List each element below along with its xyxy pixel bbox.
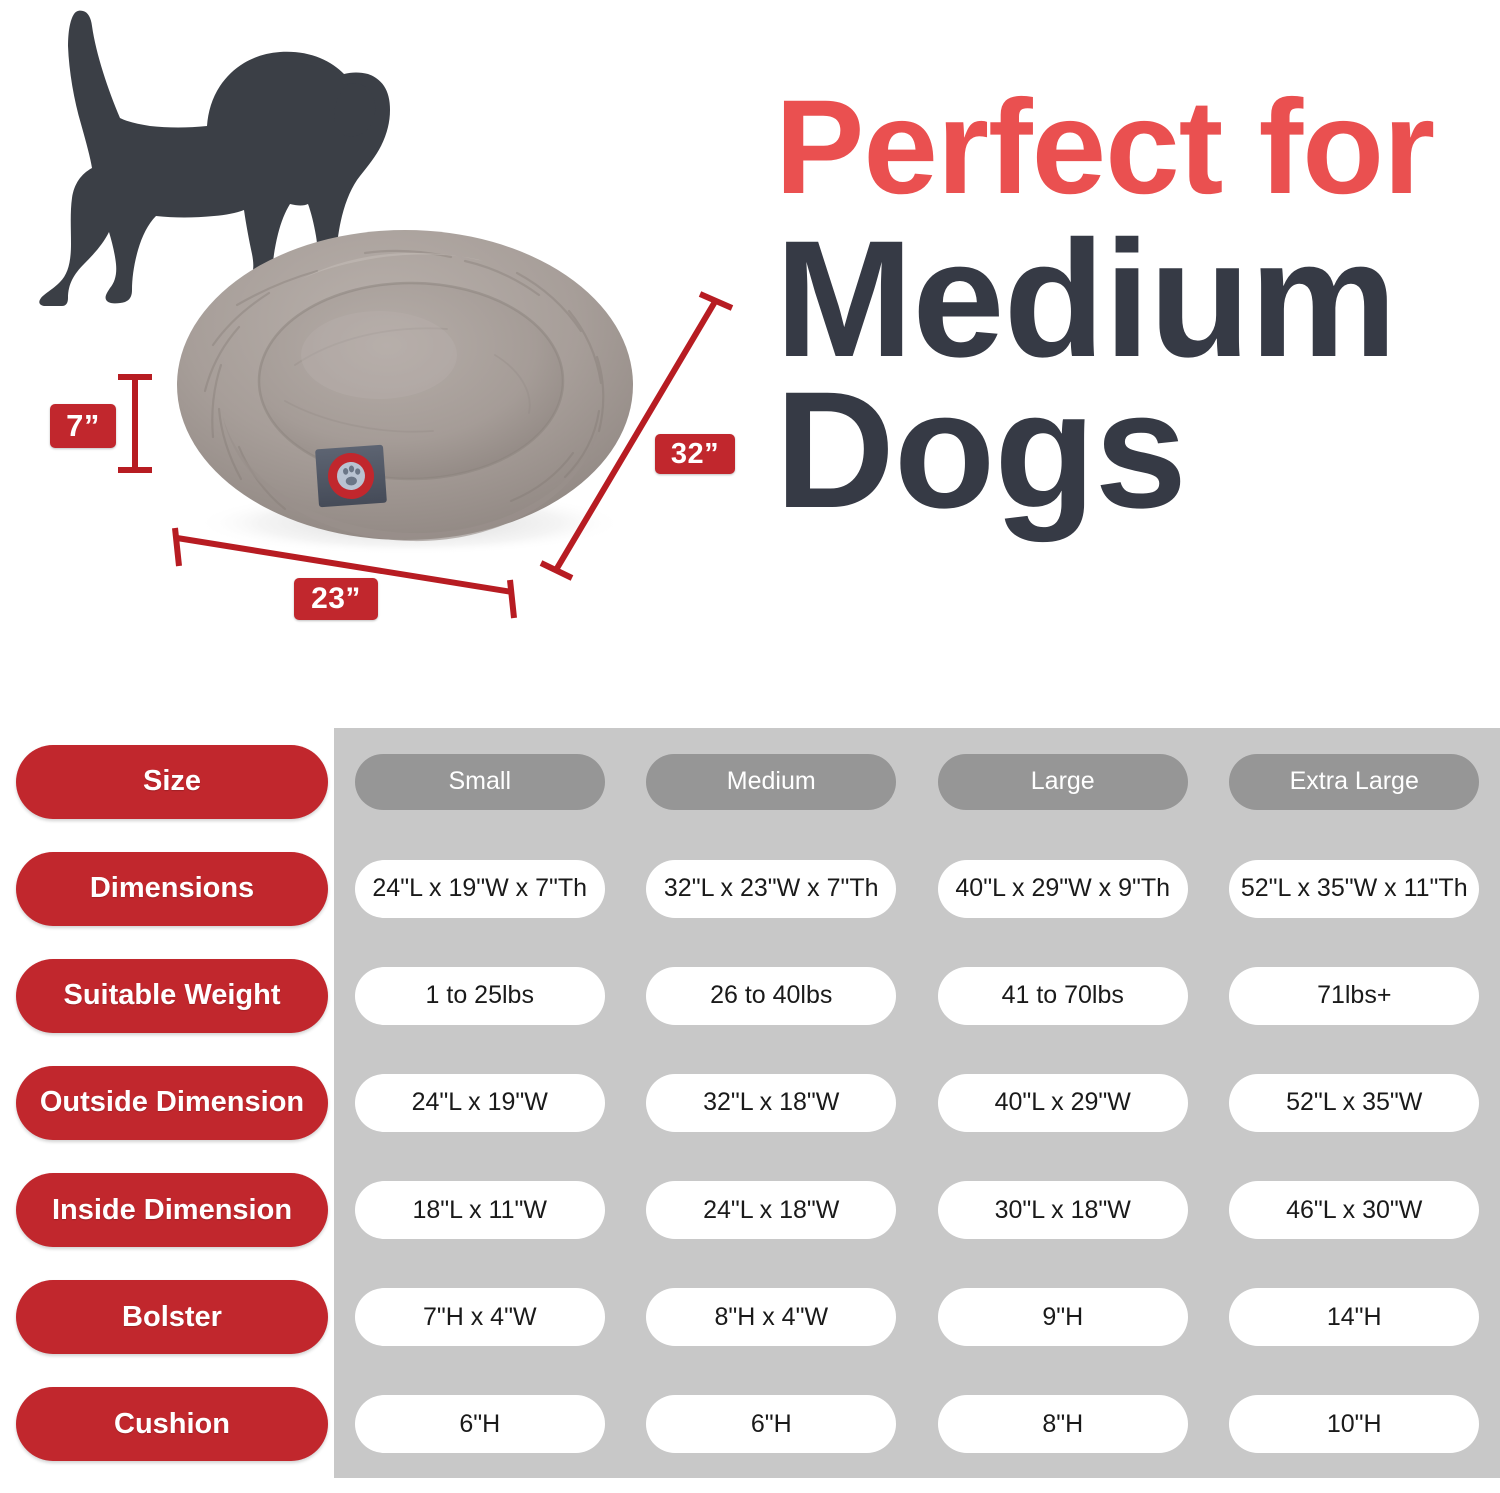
row-label-cushion: Cushion bbox=[16, 1387, 328, 1461]
table-cell: 30"L x 18"W bbox=[917, 1157, 1209, 1264]
table-cell: 24"L x 18"W bbox=[626, 1157, 918, 1264]
product-photo-dog-bed bbox=[165, 205, 645, 565]
data-pill: 24"L x 19"W bbox=[355, 1074, 605, 1132]
data-pill: 40"L x 29"W x 9"Th bbox=[938, 860, 1188, 918]
table-cell: 7"H x 4"W bbox=[334, 1264, 626, 1371]
table-cell: 32"L x 23"W x 7"Th bbox=[626, 835, 918, 942]
data-pill: 26 to 40lbs bbox=[646, 967, 896, 1025]
data-pill: 40"L x 29"W bbox=[938, 1074, 1188, 1132]
header-cell-extra-large: Extra Large bbox=[1209, 728, 1500, 835]
row-label-size: Size bbox=[16, 745, 328, 819]
row-label-suitable-weight: Suitable Weight bbox=[16, 959, 328, 1033]
row-label-cell-inside-dimension: Inside Dimension bbox=[0, 1157, 334, 1264]
row-label-bolster: Bolster bbox=[16, 1280, 328, 1354]
table-cell: 71lbs+ bbox=[1209, 942, 1500, 1049]
data-pill: 41 to 70lbs bbox=[938, 967, 1188, 1025]
dimension-badge-width: 23” bbox=[294, 578, 378, 620]
table-cell: 18"L x 11"W bbox=[334, 1157, 626, 1264]
row-label-inside-dimension: Inside Dimension bbox=[16, 1173, 328, 1247]
headline-line-perfect-for: Perfect for bbox=[775, 82, 1495, 213]
header-cell-medium: Medium bbox=[626, 728, 918, 835]
table-cell: 46"L x 30"W bbox=[1209, 1157, 1500, 1264]
row-label-cell-size: Size bbox=[0, 728, 334, 835]
data-pill: 6"H bbox=[355, 1395, 605, 1453]
data-pill: 10"H bbox=[1229, 1395, 1479, 1453]
data-pill: 8"H bbox=[938, 1395, 1188, 1453]
data-pill: 24"L x 19"W x 7"Th bbox=[355, 860, 605, 918]
table-cell: 52"L x 35"W x 11"Th bbox=[1209, 835, 1500, 942]
table-cell: 6"H bbox=[626, 1371, 918, 1478]
row-label-cell-suitable-weight: Suitable Weight bbox=[0, 942, 334, 1049]
data-pill: 9"H bbox=[938, 1288, 1188, 1346]
header-pill-extra-large: Extra Large bbox=[1229, 754, 1479, 810]
headline-line-dogs: Dogs bbox=[775, 370, 1495, 533]
row-label-cell-dimensions: Dimensions bbox=[0, 835, 334, 942]
data-pill: 32"L x 23"W x 7"Th bbox=[646, 860, 896, 918]
table-cell: 10"H bbox=[1209, 1371, 1500, 1478]
header-cell-small: Small bbox=[334, 728, 626, 835]
spec-table: Size Small Medium Large Extra Large Dime… bbox=[0, 728, 1500, 1483]
table-cell: 40"L x 29"W bbox=[917, 1049, 1209, 1156]
data-pill: 71lbs+ bbox=[1229, 967, 1479, 1025]
spec-table-grid: Size Small Medium Large Extra Large Dime… bbox=[0, 728, 1500, 1478]
data-pill: 6"H bbox=[646, 1395, 896, 1453]
data-pill: 1 to 25lbs bbox=[355, 967, 605, 1025]
table-cell: 14"H bbox=[1209, 1264, 1500, 1371]
table-cell: 52"L x 35"W bbox=[1209, 1049, 1500, 1156]
dimension-badge-length: 32” bbox=[655, 434, 735, 474]
data-pill: 52"L x 35"W bbox=[1229, 1074, 1479, 1132]
table-cell: 9"H bbox=[917, 1264, 1209, 1371]
data-pill: 30"L x 18"W bbox=[938, 1181, 1188, 1239]
row-label-cell-cushion: Cushion bbox=[0, 1371, 334, 1478]
headline: Perfect for Medium Dogs bbox=[775, 82, 1495, 533]
header-cell-large: Large bbox=[917, 728, 1209, 835]
table-cell: 26 to 40lbs bbox=[626, 942, 918, 1049]
data-pill: 24"L x 18"W bbox=[646, 1181, 896, 1239]
header-pill-small: Small bbox=[355, 754, 605, 810]
table-cell: 24"L x 19"W bbox=[334, 1049, 626, 1156]
data-pill: 32"L x 18"W bbox=[646, 1074, 896, 1132]
data-pill: 18"L x 11"W bbox=[355, 1181, 605, 1239]
table-cell: 40"L x 29"W x 9"Th bbox=[917, 835, 1209, 942]
table-cell: 1 to 25lbs bbox=[334, 942, 626, 1049]
row-label-cell-outside-dimension: Outside Dimension bbox=[0, 1049, 334, 1156]
data-pill: 46"L x 30"W bbox=[1229, 1181, 1479, 1239]
table-cell: 8"H bbox=[917, 1371, 1209, 1478]
data-pill: 52"L x 35"W x 11"Th bbox=[1229, 860, 1479, 918]
table-cell: 41 to 70lbs bbox=[917, 942, 1209, 1049]
data-pill: 14"H bbox=[1229, 1288, 1479, 1346]
header-pill-medium: Medium bbox=[646, 754, 896, 810]
row-label-outside-dimension: Outside Dimension bbox=[16, 1066, 328, 1140]
table-cell: 6"H bbox=[334, 1371, 626, 1478]
row-label-cell-bolster: Bolster bbox=[0, 1264, 334, 1371]
header-pill-large: Large bbox=[938, 754, 1188, 810]
table-cell: 32"L x 18"W bbox=[626, 1049, 918, 1156]
table-cell: 8"H x 4"W bbox=[626, 1264, 918, 1371]
brand-tag bbox=[315, 445, 387, 508]
row-label-dimensions: Dimensions bbox=[16, 852, 328, 926]
dimension-badge-height: 7” bbox=[50, 404, 116, 448]
data-pill: 7"H x 4"W bbox=[355, 1288, 605, 1346]
hero-section: 7” 23” 32” Perfect for Medium Dogs bbox=[0, 0, 1500, 720]
table-cell: 24"L x 19"W x 7"Th bbox=[334, 835, 626, 942]
data-pill: 8"H x 4"W bbox=[646, 1288, 896, 1346]
